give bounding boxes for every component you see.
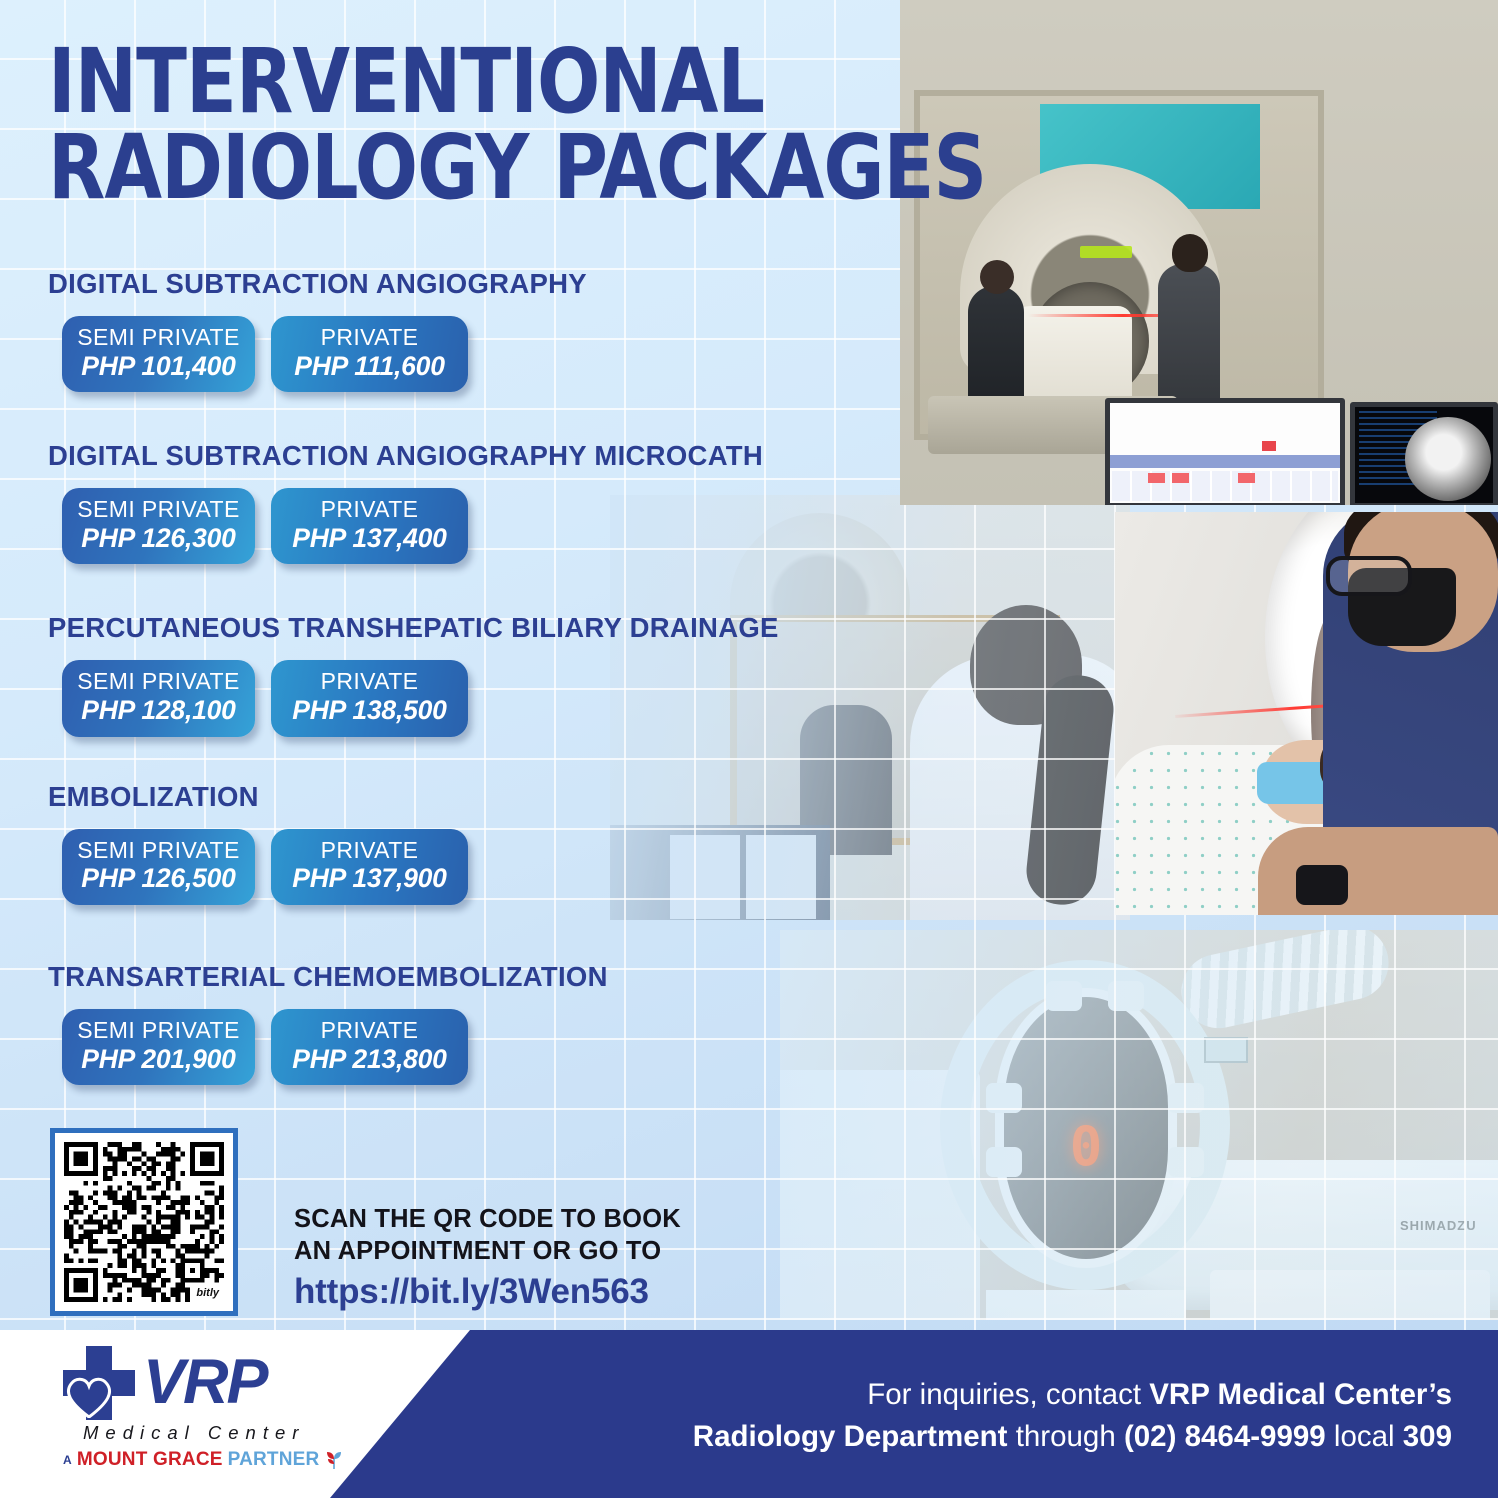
service-item: DIGITAL SUBTRACTION ANGIOGRAPHY SEMI PRI…: [48, 268, 888, 392]
pill-label: PRIVATE: [271, 497, 468, 523]
service-title: DIGITAL SUBTRACTION ANGIOGRAPHY: [48, 268, 888, 300]
mount-grace-leaf-icon: [324, 1450, 344, 1470]
pill-label: PRIVATE: [271, 325, 468, 351]
service-item: EMBOLIZATION SEMI PRIVATE PHP 126,500 PR…: [48, 781, 888, 905]
page-title-line2: RADIOLOGY PACKAGES: [48, 124, 986, 210]
pill-price: PHP 111,600: [271, 351, 468, 381]
pill-label: SEMI PRIVATE: [62, 838, 255, 864]
logo-subtitle: Medical Center: [83, 1422, 385, 1444]
pill-price: PHP 128,100: [62, 695, 255, 725]
price-pill-semi-private[interactable]: SEMI PRIVATE PHP 128,100: [62, 660, 255, 736]
qr-section: bitly SCAN THE QR CODE TO BOOK AN APPOIN…: [50, 1128, 681, 1316]
pill-price: PHP 138,500: [271, 695, 468, 725]
pill-label: SEMI PRIVATE: [62, 325, 255, 351]
pill-price: PHP 201,900: [62, 1044, 255, 1074]
price-pill-semi-private[interactable]: SEMI PRIVATE PHP 126,300: [62, 488, 255, 564]
mount-grace-partner-line: A MOUNT GRACE PARTNER: [63, 1449, 385, 1471]
qr-code[interactable]: bitly: [50, 1128, 238, 1316]
partner-prefix: A: [63, 1453, 72, 1467]
booking-url[interactable]: https://bit.ly/3Wen563: [294, 1272, 681, 1312]
service-title: PERCUTANEOUS TRANSHEPATIC BILIARY DRAINA…: [48, 612, 888, 644]
qr-instruction-line2: AN APPOINTMENT OR GO TO: [294, 1235, 681, 1267]
contact-through: through: [1008, 1420, 1124, 1453]
footer: VRP Medical Center A MOUNT GRACE PARTNER: [0, 1330, 1498, 1498]
pill-price: PHP 126,500: [62, 863, 255, 893]
mount-grace-text: MOUNT GRACE: [77, 1449, 223, 1471]
pill-price: PHP 137,900: [271, 863, 468, 893]
pill-price: PHP 213,800: [271, 1044, 468, 1074]
price-pill-private[interactable]: PRIVATE PHP 137,400: [271, 488, 468, 564]
medical-cross-heart-icon: [55, 1344, 141, 1420]
bitly-watermark: bitly: [196, 1287, 219, 1299]
service-title: TRANSARTERIAL CHEMOEMBOLIZATION: [48, 961, 888, 993]
contact-center-name: VRP Medical Center’s: [1149, 1378, 1452, 1411]
contact-line-2: Radiology Department through (02) 8464-9…: [552, 1416, 1452, 1458]
department-name: Radiology Department: [693, 1420, 1008, 1453]
price-pill-private[interactable]: PRIVATE PHP 137,900: [271, 829, 468, 905]
price-pill-semi-private[interactable]: SEMI PRIVATE PHP 101,400: [62, 316, 255, 392]
contact-text-plain: For inquiries, contact: [867, 1378, 1149, 1411]
logo-brand-text: VRP: [143, 1354, 267, 1411]
price-pill-semi-private[interactable]: SEMI PRIVATE PHP 126,500: [62, 829, 255, 905]
pill-price: PHP 126,300: [62, 523, 255, 553]
poster: SHIMADZU 0: [0, 0, 1498, 1498]
contact-info: For inquiries, contact VRP Medical Cente…: [552, 1374, 1452, 1458]
phone-number: (02) 8464-9999: [1124, 1420, 1326, 1453]
pill-label: PRIVATE: [271, 838, 468, 864]
pill-price: PHP 137,400: [271, 523, 468, 553]
service-title: DIGITAL SUBTRACTION ANGIOGRAPHY MICROCAT…: [48, 440, 888, 472]
price-pill-semi-private[interactable]: SEMI PRIVATE PHP 201,900: [62, 1009, 255, 1085]
vrp-logo: VRP Medical Center A MOUNT GRACE PARTNER: [55, 1344, 385, 1471]
pill-label: SEMI PRIVATE: [62, 497, 255, 523]
price-pill-private[interactable]: PRIVATE PHP 213,800: [271, 1009, 468, 1085]
local-extension: 309: [1403, 1420, 1452, 1453]
service-item: PERCUTANEOUS TRANSHEPATIC BILIARY DRAINA…: [48, 612, 888, 736]
contact-line-1: For inquiries, contact VRP Medical Cente…: [552, 1374, 1452, 1416]
services-list: DIGITAL SUBTRACTION ANGIOGRAPHY SEMI PRI…: [48, 268, 888, 1091]
pill-label: PRIVATE: [271, 1018, 468, 1044]
page-title: INTERVENTIONAL RADIOLOGY PACKAGES: [48, 38, 986, 211]
qr-instruction-line1: SCAN THE QR CODE TO BOOK: [294, 1203, 681, 1235]
pill-label: SEMI PRIVATE: [62, 669, 255, 695]
page-title-line1: INTERVENTIONAL: [48, 38, 986, 124]
partner-text: PARTNER: [228, 1449, 320, 1471]
price-pill-private[interactable]: PRIVATE PHP 111,600: [271, 316, 468, 392]
service-title: EMBOLIZATION: [48, 781, 888, 813]
pill-price: PHP 101,400: [62, 351, 255, 381]
service-item: DIGITAL SUBTRACTION ANGIOGRAPHY MICROCAT…: [48, 440, 888, 564]
pill-label: SEMI PRIVATE: [62, 1018, 255, 1044]
service-item: TRANSARTERIAL CHEMOEMBOLIZATION SEMI PRI…: [48, 961, 888, 1085]
price-pill-private[interactable]: PRIVATE PHP 138,500: [271, 660, 468, 736]
pill-label: PRIVATE: [271, 669, 468, 695]
contact-local: local: [1326, 1420, 1403, 1453]
